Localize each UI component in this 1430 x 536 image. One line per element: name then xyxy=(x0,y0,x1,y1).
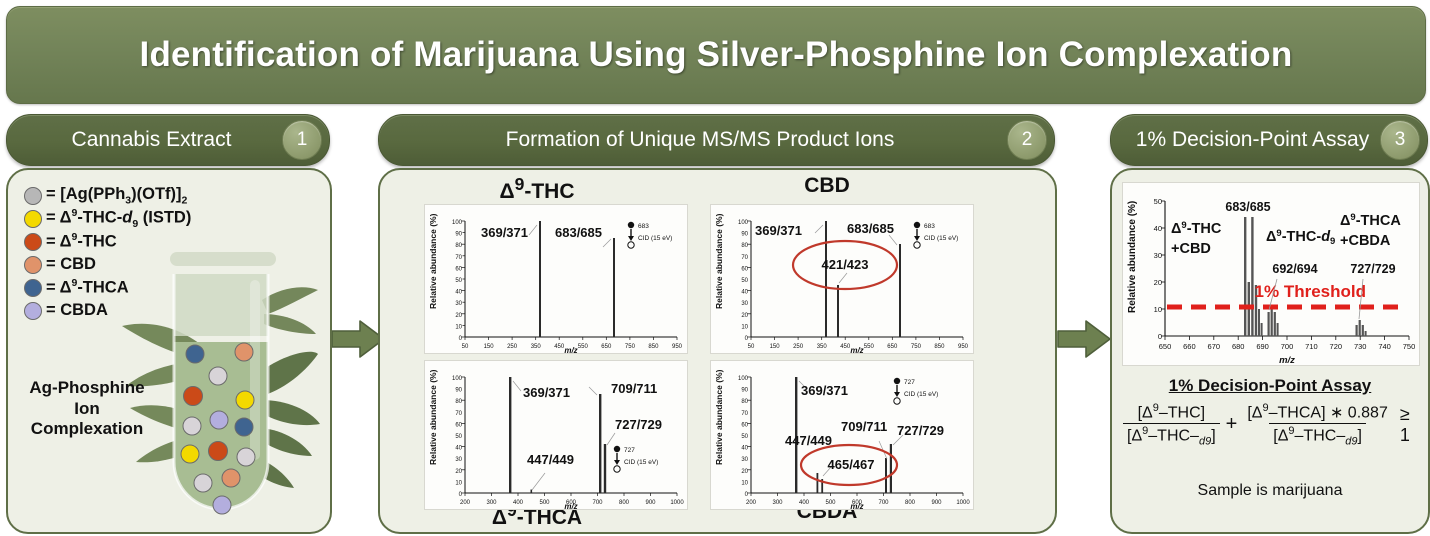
group-label-thca-cbda-line1: Δ9-THCA xyxy=(1340,212,1401,229)
peak-727 xyxy=(890,444,892,493)
peak-cluster-692-694 xyxy=(1268,306,1279,336)
product-circle xyxy=(614,466,620,472)
svg-text:250: 250 xyxy=(507,344,518,350)
legend-item-thca: = Δ9-THCA xyxy=(24,276,191,299)
peak-370 xyxy=(825,221,827,337)
svg-text:950: 950 xyxy=(672,344,683,350)
term2-numerator: [Δ9–THCA] ∗ 0.887 xyxy=(1243,402,1392,423)
y-axis-label: Relative abundance (%) xyxy=(428,369,438,465)
svg-text:720: 720 xyxy=(1330,342,1343,351)
svg-text:50: 50 xyxy=(741,434,748,440)
step-header-3: 1% Decision-Point Assay 3 xyxy=(1110,114,1428,166)
svg-text:20: 20 xyxy=(1154,278,1162,287)
peak-label-447-449: 447/449 xyxy=(785,433,832,448)
svg-text:400: 400 xyxy=(799,500,810,506)
svg-text:90: 90 xyxy=(741,232,748,238)
step-number-badge-3: 3 xyxy=(1380,120,1420,160)
peak-370 xyxy=(539,221,541,337)
legend-swatch-agpph3otf xyxy=(24,187,42,205)
svg-text:30: 30 xyxy=(455,301,462,307)
product-circle xyxy=(914,242,920,248)
svg-text:100: 100 xyxy=(452,220,463,226)
x-axis-label: m/z xyxy=(850,502,863,509)
cid-arrow-icon xyxy=(628,236,634,241)
cluster-label-683-685: 683/685 xyxy=(1225,200,1270,214)
svg-text:900: 900 xyxy=(645,500,656,506)
svg-text:850: 850 xyxy=(648,344,659,350)
equation-operator: + xyxy=(1226,413,1238,436)
svg-text:650: 650 xyxy=(1159,342,1172,351)
peak-label-465-467: 465/467 xyxy=(828,457,875,472)
group-label-thca-cbda-line2: +CBDA xyxy=(1340,233,1391,249)
svg-text:400: 400 xyxy=(513,500,524,506)
peak-cluster-683-685 xyxy=(1244,217,1263,336)
cid-label: CID (15 eV) xyxy=(624,459,658,466)
spectrum-chart-thc: Relative abundance (%) 1009080 706050 40… xyxy=(425,205,687,353)
caption-line-1: Ag-Phosphine xyxy=(22,378,152,399)
legend-label-thc-d9: = Δ9-THC-d9 (ISTD) xyxy=(46,207,191,230)
svg-text:10: 10 xyxy=(741,480,748,486)
svg-text:670: 670 xyxy=(1208,342,1221,351)
svg-text:50: 50 xyxy=(455,434,462,440)
x-axis-label: m/z xyxy=(850,346,863,353)
assay-chart: Relative abundance (%) 504030 20100 xyxy=(1123,183,1419,365)
ag-phosphine-caption: Ag-Phosphine Ion Complexation xyxy=(22,378,152,440)
svg-text:750: 750 xyxy=(625,344,636,350)
svg-text:450: 450 xyxy=(840,344,851,350)
spectrum-chart-cbd: Relative abundance (%) 1009080 706050 40… xyxy=(711,205,973,353)
flow-arrow-2-to-3 xyxy=(1056,318,1112,360)
svg-text:800: 800 xyxy=(619,500,630,506)
x-axis-label: m/z xyxy=(564,346,577,353)
svg-text:350: 350 xyxy=(531,344,542,350)
svg-text:550: 550 xyxy=(578,344,589,350)
peak-label-369-371: 369/371 xyxy=(523,385,570,400)
cid-label: CID (15 eV) xyxy=(638,235,672,242)
legend-item-cbda: = CBDA xyxy=(24,299,191,322)
y-axis-label: Relative abundance (%) xyxy=(714,213,724,309)
spectrum-chart-cbda: Relative abundance (%) 1009080 706050 40… xyxy=(711,361,973,509)
step-header-2: Formation of Unique MS/MS Product Ions 2 xyxy=(378,114,1055,166)
precursor-dot xyxy=(614,446,620,452)
svg-text:650: 650 xyxy=(887,344,898,350)
peak-447 xyxy=(817,473,819,493)
peak-label-727-729: 727/729 xyxy=(615,417,662,432)
y-axis-label: Relative abundance (%) xyxy=(428,213,438,309)
cid-label: CID (15 eV) xyxy=(924,235,958,242)
legend-item-agpph3otf: = [Ag(PPh3)(OTf)]2 xyxy=(24,184,191,207)
graphical-abstract: Identification of Marijuana Using Silver… xyxy=(0,0,1430,536)
peak-cluster-727-729 xyxy=(1356,320,1367,336)
peak-683 xyxy=(899,244,901,337)
svg-text:70: 70 xyxy=(741,255,748,261)
svg-text:30: 30 xyxy=(455,457,462,463)
legend-swatch-thca xyxy=(24,279,42,297)
svg-text:40: 40 xyxy=(1154,224,1162,233)
svg-text:10: 10 xyxy=(741,324,748,330)
group-label-thc-d9: Δ9-THC-d9 xyxy=(1266,228,1335,247)
svg-text:250: 250 xyxy=(793,344,804,350)
peak-421 xyxy=(837,285,839,337)
peak-709 xyxy=(599,394,601,493)
peak-label-683-685: 683/685 xyxy=(555,225,602,240)
svg-text:800: 800 xyxy=(905,500,916,506)
peak-370 xyxy=(509,377,511,493)
y-axis-label: Relative abundance (%) xyxy=(1127,201,1138,313)
svg-text:450: 450 xyxy=(554,344,565,350)
svg-text:300: 300 xyxy=(772,500,783,506)
caption-line-2: Ion xyxy=(22,399,152,420)
peak-label-709-711: 709/711 xyxy=(611,381,657,396)
legend-swatch-cbd xyxy=(24,256,42,274)
spectrum-card-thc: Relative abundance (%) 1009080 706050 40… xyxy=(424,204,688,354)
svg-text:750: 750 xyxy=(1403,342,1416,351)
legend-swatch-cbda xyxy=(24,302,42,320)
legend-label-cbda: = CBDA xyxy=(46,301,108,320)
page-title: Identification of Marijuana Using Silver… xyxy=(140,35,1293,75)
x-axis-ticks: 650660670 680690700 710720730 740750 xyxy=(1159,342,1416,351)
svg-text:10: 10 xyxy=(455,324,462,330)
legend-swatch-thc-d9 xyxy=(24,210,42,228)
svg-text:50: 50 xyxy=(462,344,469,350)
svg-text:350: 350 xyxy=(817,344,828,350)
svg-text:740: 740 xyxy=(1378,342,1391,351)
svg-text:200: 200 xyxy=(460,500,471,506)
svg-text:710: 710 xyxy=(1305,342,1318,351)
y-axis-label: Relative abundance (%) xyxy=(714,369,724,465)
svg-text:700: 700 xyxy=(1281,342,1294,351)
step-title-1: Cannabis Extract xyxy=(7,128,282,152)
peak-447 xyxy=(531,490,533,494)
legend-label-thc: = Δ9-THC xyxy=(46,231,117,252)
svg-text:90: 90 xyxy=(741,388,748,394)
legend-label-cbd: = CBD xyxy=(46,255,96,274)
equation-term-2: [Δ9–THCA] ∗ 0.887 [Δ9–THC–d9] xyxy=(1243,402,1392,448)
svg-text:90: 90 xyxy=(455,388,462,394)
svg-text:550: 550 xyxy=(864,344,875,350)
precursor-mass: 727 xyxy=(624,447,635,454)
peak-label-369-371: 369/371 xyxy=(801,383,848,398)
svg-text:90: 90 xyxy=(455,232,462,238)
x-axis-label: m/z xyxy=(1279,355,1295,365)
svg-text:690: 690 xyxy=(1256,342,1269,351)
svg-text:70: 70 xyxy=(455,411,462,417)
svg-text:100: 100 xyxy=(738,220,749,226)
svg-text:150: 150 xyxy=(484,344,495,350)
precursor-mass: 727 xyxy=(904,379,915,386)
svg-text:10: 10 xyxy=(455,480,462,486)
assay-conclusion: Sample is marijuana xyxy=(1112,482,1428,500)
equation-term-1: [Δ9–THC] [Δ9–THC–d9] xyxy=(1123,402,1220,448)
svg-text:500: 500 xyxy=(825,500,836,506)
x-axis-label: m/z xyxy=(564,502,577,509)
svg-text:730: 730 xyxy=(1354,342,1367,351)
svg-text:950: 950 xyxy=(958,344,969,350)
panel-msms-product-ions: Δ9-THC CBD Δ9-THCA CBDA Relative abundan… xyxy=(378,168,1057,534)
peak-label-447-449: 447/449 xyxy=(527,452,574,467)
svg-text:660: 660 xyxy=(1183,342,1196,351)
spectrum-title-thc: Δ9-THC xyxy=(402,174,672,204)
equation-tail: ≥ 1 xyxy=(1400,404,1420,446)
legend-item-cbd: = CBD xyxy=(24,253,191,276)
svg-text:500: 500 xyxy=(539,500,550,506)
legend-item-thc-d9: = Δ9-THC-d9 (ISTD) xyxy=(24,207,191,230)
peak-label-683-685: 683/685 xyxy=(847,221,894,236)
svg-text:200: 200 xyxy=(746,500,757,506)
product-circle xyxy=(628,242,634,248)
svg-text:700: 700 xyxy=(878,500,889,506)
legend-label-agpph3otf: = [Ag(PPh3)(OTf)]2 xyxy=(46,185,187,206)
legend-swatch-thc xyxy=(24,233,42,251)
peak-727 xyxy=(604,444,606,493)
peak-label-369-371: 369/371 xyxy=(481,225,528,240)
peak-label-421-423: 421/423 xyxy=(822,257,869,272)
precursor-mass: 683 xyxy=(638,223,649,230)
svg-text:750: 750 xyxy=(911,344,922,350)
group-label-thc-cbd-line1: Δ9-THC xyxy=(1171,220,1222,237)
svg-text:680: 680 xyxy=(1232,342,1245,351)
peak-label-727-729: 727/729 xyxy=(897,423,944,438)
svg-text:30: 30 xyxy=(741,457,748,463)
svg-text:50: 50 xyxy=(741,278,748,284)
svg-text:1000: 1000 xyxy=(956,500,970,506)
legend-list: = [Ag(PPh3)(OTf)]2 = Δ9-THC-d9 (ISTD) = … xyxy=(24,184,191,322)
cid-arrow-icon xyxy=(894,392,900,397)
svg-text:30: 30 xyxy=(741,301,748,307)
product-circle xyxy=(894,398,900,404)
assay-equation: [Δ9–THC] [Δ9–THC–d9] + [Δ9–THCA] ∗ 0.887… xyxy=(1120,402,1420,448)
group-label-thc-cbd-line2: +CBD xyxy=(1171,241,1211,257)
assay-section-title: 1% Decision-Point Assay xyxy=(1112,376,1428,396)
caption-line-3: Complexation xyxy=(22,419,152,440)
precursor-dot xyxy=(894,378,900,384)
spectrum-card-cbd: Relative abundance (%) 1009080 706050 40… xyxy=(710,204,974,354)
svg-text:150: 150 xyxy=(770,344,781,350)
step-title-3: 1% Decision-Point Assay xyxy=(1111,128,1380,152)
svg-text:1000: 1000 xyxy=(670,500,684,506)
cid-arrow-icon xyxy=(914,236,920,241)
svg-text:850: 850 xyxy=(934,344,945,350)
step-title-2: Formation of Unique MS/MS Product Ions xyxy=(379,128,1007,152)
svg-text:70: 70 xyxy=(741,411,748,417)
svg-text:100: 100 xyxy=(452,376,463,382)
legend-item-thc: = Δ9-THC xyxy=(24,230,191,253)
step-header-1: Cannabis Extract 1 xyxy=(6,114,330,166)
threshold-label: 1% Threshold xyxy=(1255,282,1366,301)
svg-text:50: 50 xyxy=(1154,197,1162,206)
spectrum-card-thca: Relative abundance (%) 1009080 706050 40… xyxy=(424,360,688,510)
peak-709 xyxy=(885,458,887,493)
assay-chart-card: Relative abundance (%) 504030 20100 xyxy=(1122,182,1420,366)
spectrum-card-cbda: Relative abundance (%) 1009080 706050 40… xyxy=(710,360,974,510)
cluster-label-727-729: 727/729 xyxy=(1350,262,1395,276)
peak-label-369-371: 369/371 xyxy=(755,223,802,238)
cid-label: CID (15 eV) xyxy=(904,391,938,398)
precursor-mass: 683 xyxy=(924,223,935,230)
panel-cannabis-extract: = [Ag(PPh3)(OTf)]2 = Δ9-THC-d9 (ISTD) = … xyxy=(6,168,332,534)
svg-text:100: 100 xyxy=(738,376,749,382)
peak-683 xyxy=(613,238,615,337)
svg-text:50: 50 xyxy=(455,278,462,284)
term2-denominator: [Δ9–THC–d9] xyxy=(1269,423,1366,448)
cluster-label-692-694: 692/694 xyxy=(1272,262,1317,276)
svg-text:10: 10 xyxy=(1154,305,1162,314)
svg-text:0: 0 xyxy=(1158,332,1162,341)
step-number-badge-1: 1 xyxy=(282,120,322,160)
spectrum-chart-thca: Relative abundance (%) 1009080 706050 40… xyxy=(425,361,687,509)
svg-text:700: 700 xyxy=(592,500,603,506)
peak-label-709-711: 709/711 xyxy=(841,419,887,434)
cid-arrow-icon xyxy=(614,460,620,465)
precursor-dot xyxy=(914,222,920,228)
spectrum-title-cbd: CBD xyxy=(692,174,962,198)
legend-label-thca: = Δ9-THCA xyxy=(46,277,129,298)
step-number-badge-2: 2 xyxy=(1007,120,1047,160)
term1-numerator: [Δ9–THC] xyxy=(1134,402,1210,423)
main-title-bar: Identification of Marijuana Using Silver… xyxy=(6,6,1426,104)
svg-text:300: 300 xyxy=(486,500,497,506)
svg-text:650: 650 xyxy=(601,344,612,350)
svg-text:50: 50 xyxy=(748,344,755,350)
svg-text:900: 900 xyxy=(931,500,942,506)
svg-text:70: 70 xyxy=(455,255,462,261)
svg-text:30: 30 xyxy=(1154,251,1162,260)
precursor-dot xyxy=(628,222,634,228)
panel-decision-point-assay: Relative abundance (%) 504030 20100 xyxy=(1110,168,1430,534)
term1-denominator: [Δ9–THC–d9] xyxy=(1123,423,1220,448)
